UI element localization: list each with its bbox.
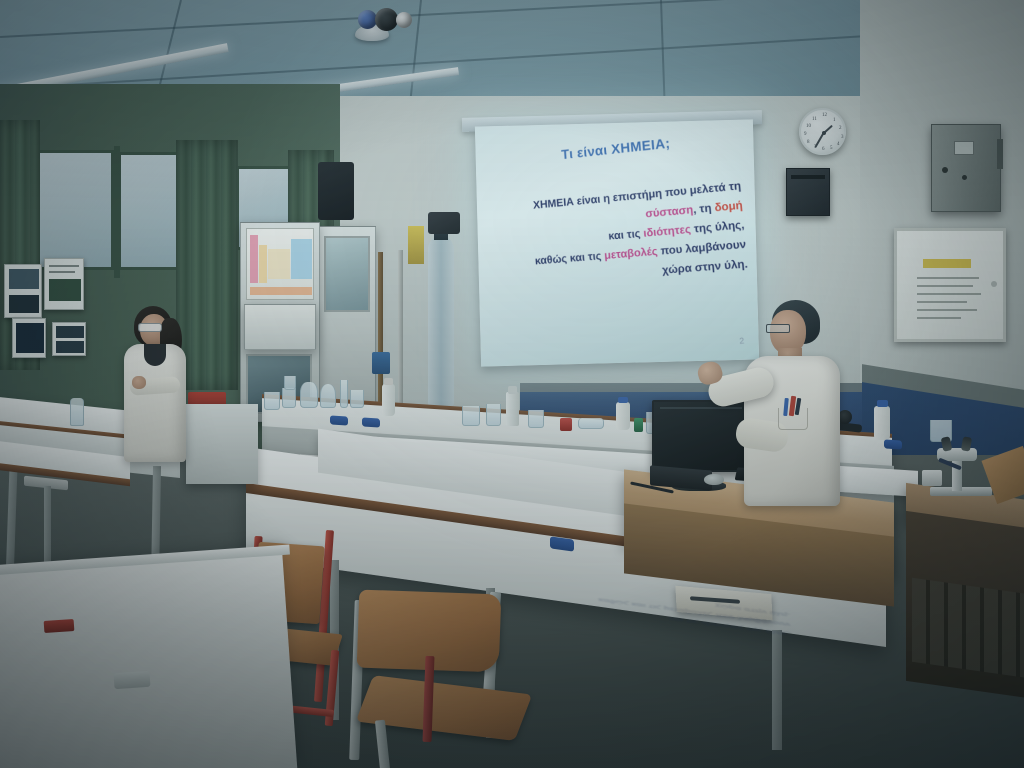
electrical-panel bbox=[931, 124, 1001, 212]
reagent-bottle-1-cap bbox=[618, 397, 628, 403]
tall-glass-column bbox=[428, 236, 454, 406]
student-hand bbox=[132, 376, 146, 389]
soap-dispenser bbox=[506, 392, 519, 426]
beaker-1 bbox=[264, 392, 280, 410]
bench-leg-3 bbox=[772, 630, 782, 750]
soap-pump bbox=[508, 386, 517, 394]
window-mullion bbox=[114, 146, 120, 278]
highlight-domi: δομή bbox=[714, 199, 743, 214]
beaker-2 bbox=[282, 388, 296, 408]
classroom-photo: Τι είναι ΧΗΜΕΙΑ; ΧΗΜΕΙΑ είναι η επιστήμη… bbox=[0, 0, 1024, 768]
black-clamp bbox=[838, 410, 852, 424]
window-pane-left bbox=[36, 150, 114, 270]
highlight-metaboles: μεταβολές bbox=[604, 246, 658, 262]
wall-poster-1 bbox=[4, 264, 42, 318]
broom-head bbox=[372, 352, 390, 374]
highlight-idiotites: ιδιότητες bbox=[643, 224, 691, 240]
student-collar bbox=[144, 344, 166, 366]
foreground-bench-red-label bbox=[44, 619, 75, 633]
beaker-6 bbox=[528, 410, 544, 428]
lab-appliance bbox=[244, 304, 316, 350]
gas-tap-4 bbox=[884, 439, 902, 449]
wall-speaker bbox=[786, 168, 830, 216]
yellow-sign bbox=[408, 226, 424, 264]
flask-1 bbox=[300, 382, 318, 408]
wall-bracket bbox=[428, 212, 460, 234]
periodic-table-poster bbox=[246, 228, 314, 300]
beaker-3 bbox=[350, 390, 364, 408]
blue-cap bbox=[877, 400, 888, 407]
beaker-5 bbox=[486, 404, 501, 426]
microscope-light bbox=[922, 470, 942, 486]
highlight-systasi: σύσταση bbox=[645, 204, 694, 220]
flask-2 bbox=[320, 384, 336, 408]
ring-stand bbox=[378, 252, 383, 402]
wall-poster-4 bbox=[52, 322, 86, 356]
wall-poster-3 bbox=[12, 318, 46, 358]
student-person bbox=[116, 306, 202, 482]
slide-title: Τι είναι ΧΗΜΕΙΑ; bbox=[486, 127, 753, 170]
glass-tube bbox=[340, 380, 348, 408]
gas-tap-2 bbox=[362, 417, 380, 427]
cabinet-glass-door bbox=[324, 236, 370, 312]
storage-rack bbox=[912, 578, 1024, 679]
red-item-1 bbox=[560, 418, 572, 431]
teacher-person bbox=[714, 298, 840, 508]
wash-bottle-cap bbox=[384, 378, 393, 385]
wall-box-duct bbox=[318, 162, 354, 220]
foreground-bench bbox=[0, 549, 297, 768]
left-bench-bottle bbox=[70, 398, 84, 426]
tripod-stand bbox=[398, 250, 403, 410]
window-pane-mid bbox=[118, 152, 184, 270]
framed-notice bbox=[894, 228, 1006, 342]
wall-clock: 12 1 2 3 4 5 6 7 8 9 10 11 bbox=[799, 108, 846, 155]
wash-bottle bbox=[382, 384, 395, 416]
beaker-4 bbox=[462, 406, 480, 426]
petri-dish bbox=[578, 418, 604, 429]
reagent-bottle-blue-cap bbox=[874, 406, 890, 440]
green-item bbox=[634, 418, 643, 432]
foreground-bench-tap bbox=[113, 671, 150, 689]
funnel-1 bbox=[284, 376, 296, 390]
slide-body: ΧΗΜΕΙΑ είναι η επιστήμη που μελετά τη σύ… bbox=[492, 177, 748, 293]
teacher-pocket bbox=[778, 408, 808, 430]
student-safety-goggles bbox=[138, 323, 162, 332]
teacher-glasses bbox=[766, 324, 790, 333]
gas-tap-1 bbox=[330, 415, 348, 425]
reagent-bottle-1 bbox=[616, 402, 630, 430]
wall-poster-2 bbox=[44, 258, 84, 310]
